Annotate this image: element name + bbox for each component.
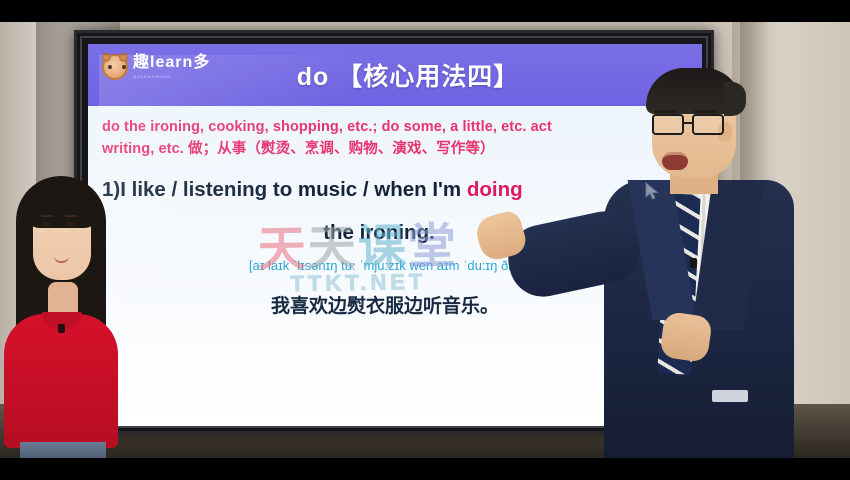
brand-logo: 趣learn多 QULEARNDUO xyxy=(102,54,210,80)
student-red-sweater xyxy=(4,314,118,448)
student-eye-right xyxy=(66,222,75,226)
teacher-brow-right xyxy=(694,110,718,113)
video-frame: 趣learn多 QULEARNDUO do 【核心用法四】 do the iro… xyxy=(0,0,850,480)
teacher-lower-hand xyxy=(659,311,713,363)
student-eye-left xyxy=(42,222,51,226)
logo-subtext: QULEARNDUO xyxy=(133,74,210,79)
student-lapel-mic xyxy=(58,324,65,333)
monkey-mascot-icon xyxy=(102,54,128,80)
student-brow-left xyxy=(41,215,52,217)
teacher-right xyxy=(566,68,806,458)
teacher-hair xyxy=(646,68,742,114)
student-jeans xyxy=(20,442,106,458)
example-highlight-word: doing xyxy=(467,178,523,201)
letterbox-bar-bottom xyxy=(0,458,850,480)
teacher-mouth xyxy=(662,152,688,170)
teacher-lapel-mic xyxy=(690,258,697,268)
logo-text: 趣learn多 xyxy=(133,55,210,71)
student-left xyxy=(2,162,120,458)
example-text-before: I like / listening to music / when I'm xyxy=(120,178,467,201)
mouse-cursor xyxy=(645,182,661,202)
student-brow-right xyxy=(65,215,76,217)
letterbox-bar-top xyxy=(0,0,850,22)
teacher-badge xyxy=(712,390,748,402)
teacher-brow-left xyxy=(654,110,678,113)
teacher-glasses-icon xyxy=(652,114,736,136)
